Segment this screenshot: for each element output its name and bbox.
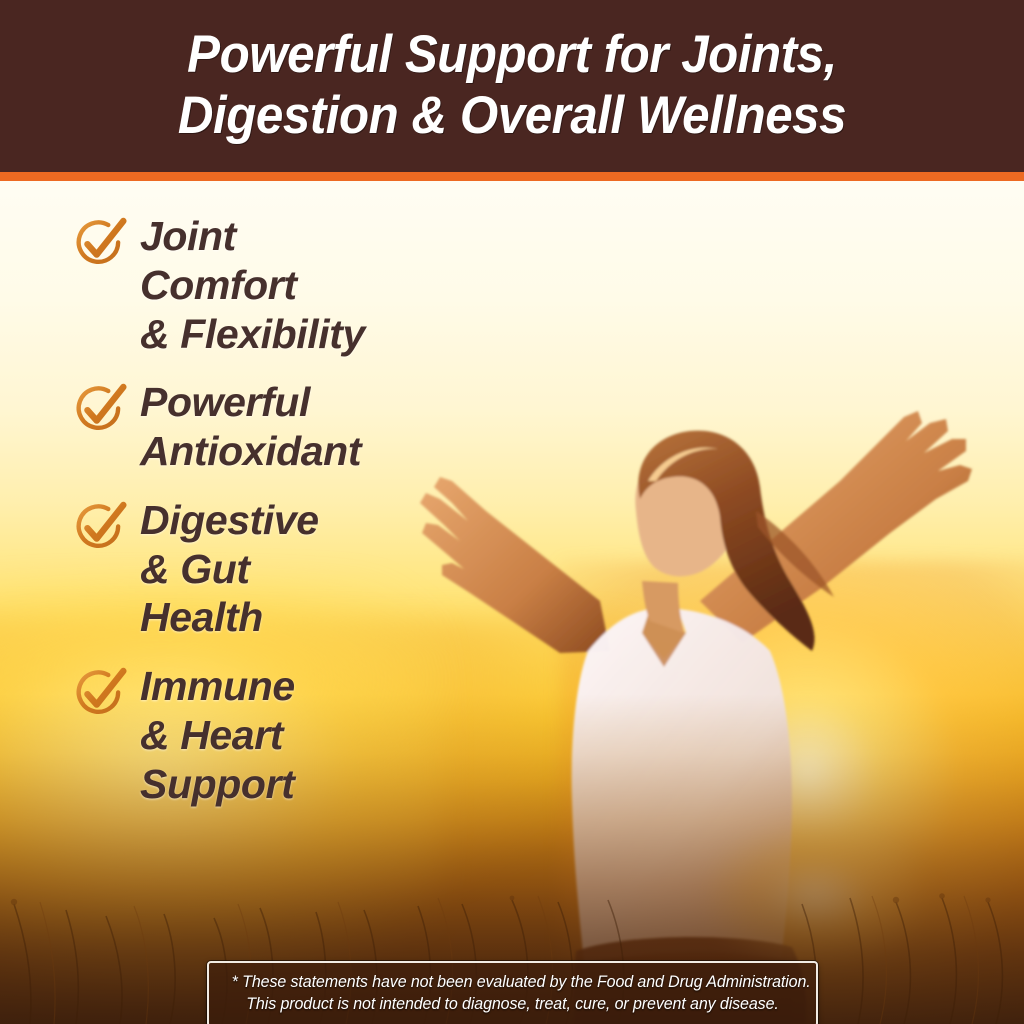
check-circle-icon [70, 380, 128, 438]
benefit-label: Digestive & Gut Health [140, 494, 319, 642]
header-title-line-1: Powerful Support for Joints, [73, 25, 951, 86]
check-circle-icon [70, 214, 128, 272]
benefit-item: Joint Comfort & Flexibility [70, 210, 490, 358]
benefits-list: Joint Comfort & Flexibility Powerful Ant… [70, 210, 490, 827]
check-circle-icon [70, 664, 128, 722]
product-benefits-infographic: Powerful Support for Joints, Digestion &… [0, 0, 1024, 1024]
benefit-item: Immune & Heart Support [70, 660, 490, 808]
disclaimer-line-1: * These statements have not been evaluat… [232, 971, 794, 993]
header-title-block: Powerful Support for Joints, Digestion &… [0, 25, 1024, 147]
fda-disclaimer-box: * These statements have not been evaluat… [207, 961, 818, 1024]
benefit-label: Joint Comfort & Flexibility [140, 210, 365, 358]
check-circle-icon [70, 498, 128, 556]
header-accent-rule [0, 172, 1024, 181]
header-banner: Powerful Support for Joints, Digestion &… [0, 0, 1024, 172]
benefit-label: Powerful Antioxidant [140, 376, 361, 476]
header-title-line-2: Digestion & Overall Wellness [73, 86, 951, 147]
disclaimer-line-2: This product is not intended to diagnose… [232, 993, 794, 1015]
benefit-item: Digestive & Gut Health [70, 494, 490, 642]
benefit-label: Immune & Heart Support [140, 660, 295, 808]
benefit-item: Powerful Antioxidant [70, 376, 490, 476]
